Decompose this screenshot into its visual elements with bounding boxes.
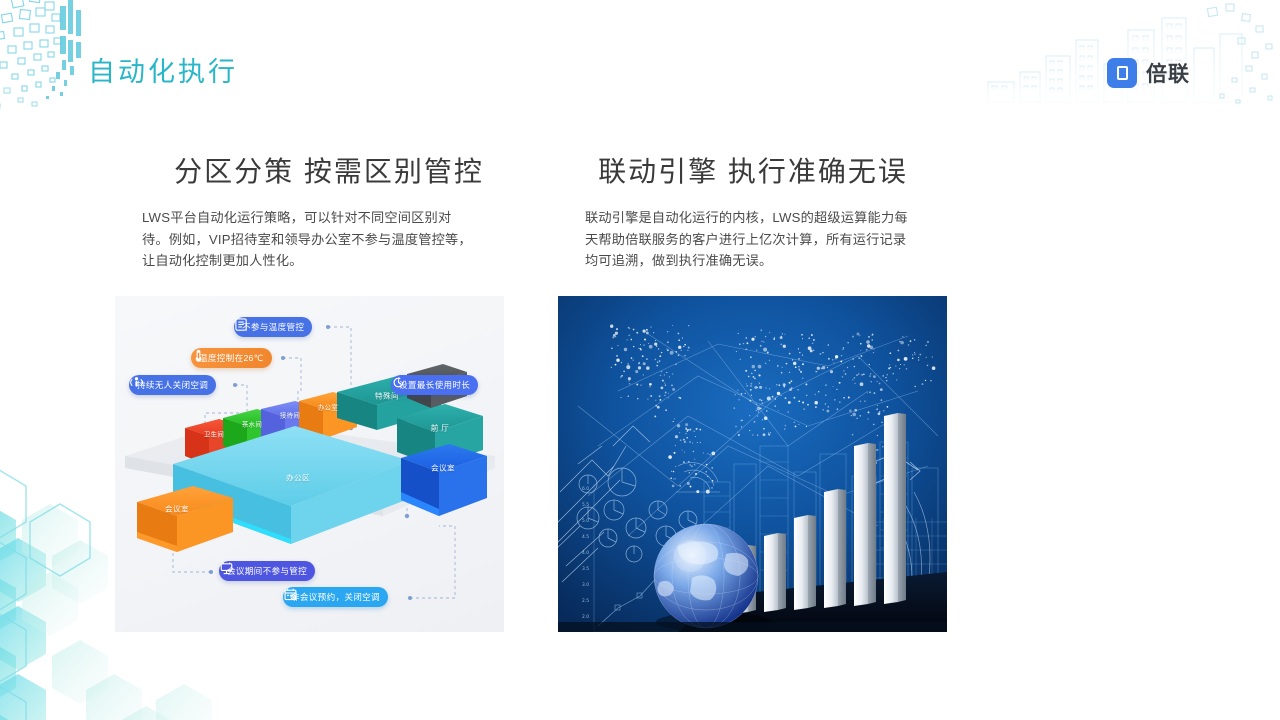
brand-logo: 倍联 — [1107, 58, 1190, 88]
room-label-0: 卫生间 — [204, 430, 224, 439]
callout-unoccupied-shutdown-ac[interactable]: 持续无人关闭空调 — [129, 375, 216, 395]
room-label-9: 会议室 — [431, 463, 455, 474]
svg-text:4.5: 4.5 — [582, 534, 589, 540]
callout-max-usage-duration[interactable]: 设置最长使用时长 — [391, 375, 478, 395]
brand-name: 倍联 — [1146, 58, 1190, 88]
callout-label-2: 持续无人关闭空调 — [137, 379, 208, 391]
room-label-3: 办公室 — [318, 403, 338, 412]
callout-label-1: 温度控制在26℃ — [199, 352, 264, 364]
svg-text:6.0: 6.0 — [582, 486, 589, 492]
svg-text:3.5: 3.5 — [582, 566, 589, 572]
callout-meeting-exempt-control[interactable]: 会议期间不参与管控 — [219, 561, 315, 581]
projector-screen-icon — [219, 561, 234, 576]
svg-text:5.5: 5.5 — [582, 502, 589, 508]
callout-no-booking-close-ac[interactable]: 非会议预约，关闭空调 — [283, 587, 388, 607]
slide-header: 自动化执行 倍联 — [0, 0, 1280, 120]
column-left: 分区分策 按需区别管控 LWS平台自动化运行策略，可以针对不同空间区别对待。例如… — [115, 150, 515, 272]
section-heading-right: 联动引擎 执行准确无误 — [558, 150, 958, 190]
room-label-7: 会议室 — [165, 504, 189, 515]
room-label-6: 前 厅 — [431, 423, 450, 434]
document-list-icon — [234, 317, 249, 332]
slide-root: 自动化执行 倍联 分区分策 按需区别管控 LWS平台自动化运行策略，可以针对不同… — [0, 0, 1280, 720]
rounded-square-logo-icon — [1107, 58, 1137, 88]
page-title: 自动化执行 — [88, 50, 238, 89]
section-body-left: LWS平台自动化运行策略，可以针对不同空间区别对待。例如，VIP招待室和领导办公… — [142, 207, 474, 272]
callout-no-temperature-control[interactable]: 不参与温度管控 — [234, 317, 312, 337]
callout-label-0: 不参与温度管控 — [242, 321, 304, 333]
timer-clock-icon — [391, 375, 406, 390]
motion-sensor-icon — [129, 375, 144, 390]
callout-temperature-26c[interactable]: 温度控制在26℃ — [191, 348, 272, 368]
svg-text:2.5: 2.5 — [582, 598, 589, 604]
room-label-8: 办公区 — [286, 473, 310, 484]
svg-text:4.0: 4.0 — [582, 550, 589, 556]
callout-label-5: 非会议预约，关闭空调 — [291, 591, 380, 603]
svg-text:2.0: 2.0 — [582, 614, 589, 620]
room-label-1: 茶水间 — [242, 420, 262, 429]
calendar-check-icon — [283, 587, 298, 602]
callout-label-4: 会议期间不参与管控 — [227, 565, 307, 577]
isometric-office-floorplan-diagram: 卫生间 茶水间 接待间 办公室 特殊间 电梯间 前 厅 会议室 办公区 会议室 … — [115, 296, 504, 632]
global-network-data-analytics-image: 6.05.55.0 4.54.03.5 3.02.52.0 — [558, 296, 947, 632]
room-label-2: 接待间 — [280, 411, 300, 420]
section-heading-left: 分区分策 按需区别管控 — [115, 150, 515, 190]
callout-label-3: 设置最长使用时长 — [399, 379, 470, 391]
thermometer-icon — [191, 348, 206, 363]
svg-text:5.0: 5.0 — [582, 518, 589, 524]
column-right: 联动引擎 执行准确无误 联动引擎是自动化运行的内核，LWS的超级运算能力每天帮助… — [558, 150, 958, 272]
svg-text:3.0: 3.0 — [582, 582, 589, 588]
section-body-right: 联动引擎是自动化运行的内核，LWS的超级运算能力每天帮助倍联服务的客户进行上亿次… — [585, 207, 917, 272]
